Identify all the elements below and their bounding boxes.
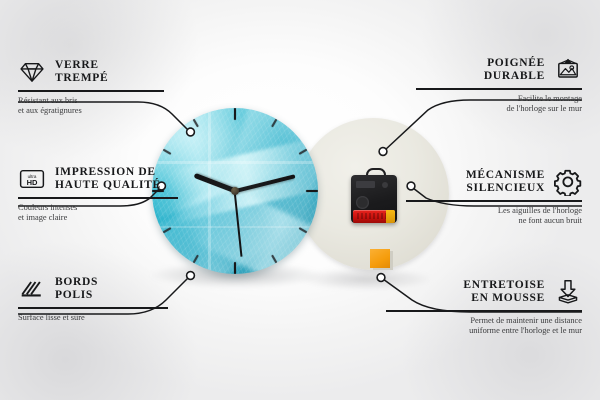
feature-description: Les aiguilles de l'horloge ne font aucun… [406, 206, 582, 227]
feature-divider [18, 307, 168, 309]
mechanism-screw-dot [382, 182, 388, 188]
feature-divider [416, 88, 582, 90]
feature-divider [406, 200, 582, 202]
feature-description: Résistant aux bris et aux égratignures [18, 96, 164, 117]
feature-description: Couleurs intenses et image claire [18, 203, 178, 224]
clock-hands-cap [231, 187, 239, 195]
feature-divider [386, 310, 582, 312]
hour-mark-12 [234, 108, 236, 191]
feature-description: Facilite le montage de l'horloge sur le … [416, 94, 582, 115]
feature-description: Surface lisse et sûre [18, 313, 168, 324]
feature-title: ENTRETOISE EN MOUSSE [463, 279, 545, 306]
feature-title: IMPRESSION DE HAUTE QUALITÉ [55, 166, 161, 193]
feature-callout-poignee-durable[interactable]: POIGNÉE DURABLE Facilite le montage de l… [416, 56, 582, 115]
gear-icon [554, 168, 582, 196]
feature-callout-bords-polis[interactable]: BORDS POLIS Surface lisse et sûre [18, 275, 168, 323]
feature-title: MÉCANISME SILENCIEUX [466, 169, 545, 196]
feature-callout-impression-haute-qualite[interactable]: ultra HD IMPRESSION DE HAUTE QUALITÉ Cou… [18, 165, 178, 224]
hour-mark-3 [235, 190, 318, 192]
feature-title: BORDS POLIS [55, 276, 98, 303]
foam-spacer-arrow-icon [554, 278, 582, 306]
feature-divider [18, 90, 164, 92]
infographic-canvas: VERRE TREMPÉ Résistant aux bris et aux é… [0, 0, 600, 400]
mechanism-setting-dial [356, 196, 369, 209]
mechanism-label-slot [356, 181, 375, 188]
svg-text:HD: HD [27, 178, 38, 187]
feature-description: Permet de maintenir une distance uniform… [386, 316, 582, 337]
feature-title: VERRE TREMPÉ [55, 59, 108, 86]
feature-divider [18, 197, 178, 199]
ultra-hd-icon: ultra HD [18, 165, 46, 193]
feature-callout-mecanisme-silencieux[interactable]: MÉCANISME SILENCIEUX Les aiguilles de l'… [406, 168, 582, 227]
battery-positive-terminal [386, 210, 395, 223]
diamond-icon [18, 58, 46, 86]
feature-title: POIGNÉE DURABLE [484, 57, 545, 84]
foam-spacer [370, 249, 390, 268]
picture-frame-hanger-icon [554, 56, 582, 84]
polished-edges-icon [18, 275, 46, 303]
battery-label [357, 213, 387, 219]
feature-callout-entretoise-en-mousse[interactable]: ENTRETOISE EN MOUSSE Permet de maintenir… [386, 278, 582, 337]
feature-callout-verre-trempe[interactable]: VERRE TREMPÉ Résistant aux bris et aux é… [18, 58, 164, 117]
